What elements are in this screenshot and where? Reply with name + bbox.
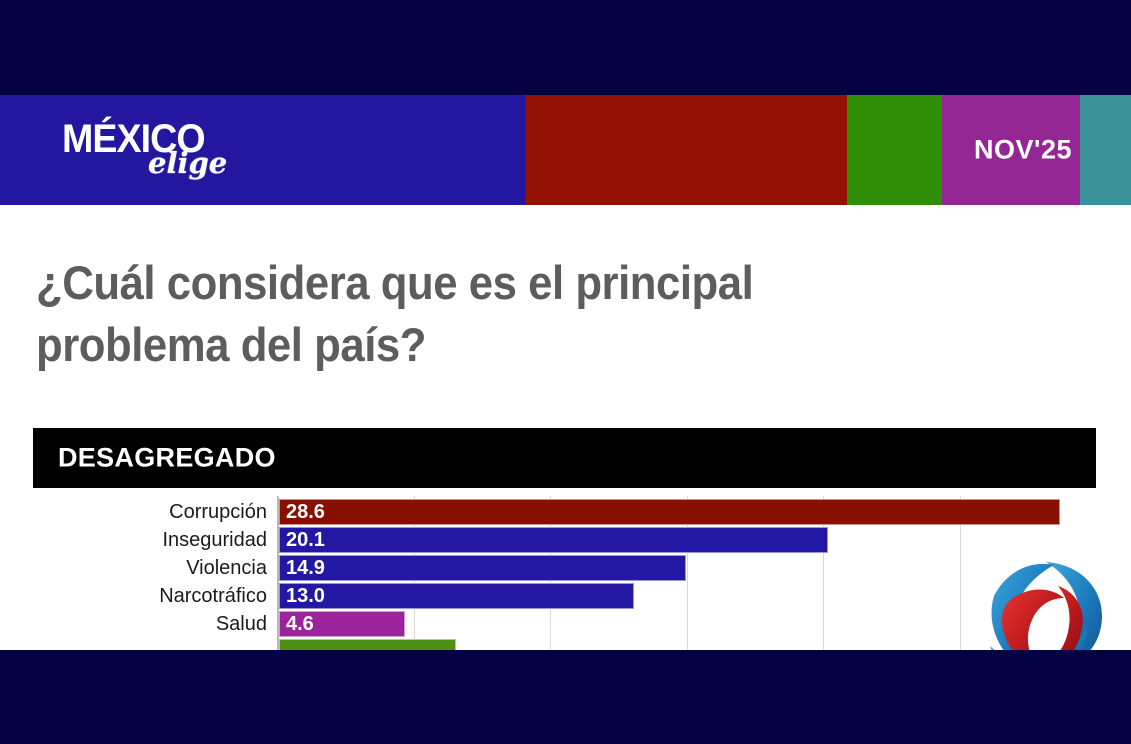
section-header-label: DESAGREGADO bbox=[58, 443, 276, 474]
poll-graphic: MÉXICO elige NOV'25 ¿Cuál considera que … bbox=[0, 0, 1131, 744]
page-title: ¿Cuál considera que es el principal prob… bbox=[36, 252, 873, 376]
banner-segment-purple: NOV'25 bbox=[942, 95, 1080, 205]
category-axis-labels: CorrupciónInseguridadViolenciaNarcotráfi… bbox=[33, 496, 277, 650]
brand-banner: MÉXICO elige NOV'25 bbox=[0, 95, 1131, 205]
bar: 14.9 bbox=[279, 555, 686, 581]
banner-segment-teal bbox=[1080, 95, 1131, 205]
bar-chart: CorrupciónInseguridadViolenciaNarcotráfi… bbox=[33, 496, 1096, 650]
top-navy-strip bbox=[0, 0, 1131, 95]
banner-segment-blue: MÉXICO elige bbox=[0, 95, 525, 205]
category-label: Violencia bbox=[33, 558, 267, 578]
category-label: Corrupción bbox=[33, 502, 267, 522]
bar-value-label: 13.0 bbox=[286, 586, 325, 606]
bar: 4.6 bbox=[279, 611, 405, 637]
category-label: Narcotráfico bbox=[33, 586, 267, 606]
section-header-bar: DESAGREGADO bbox=[33, 428, 1096, 488]
logo-secondary-text: elige bbox=[148, 149, 227, 178]
bar-cropped bbox=[279, 639, 456, 650]
bar-value-label: 28.6 bbox=[286, 502, 325, 522]
bar: 28.6 bbox=[279, 499, 1060, 525]
bar: 20.1 bbox=[279, 527, 828, 553]
plot-area: 28.620.114.913.04.6 bbox=[277, 496, 1096, 650]
bar-value-label: 20.1 bbox=[286, 530, 325, 550]
category-label: Inseguridad bbox=[33, 530, 267, 550]
bottom-navy-strip bbox=[0, 650, 1131, 744]
mexico-elige-logo: MÉXICO elige bbox=[62, 113, 252, 187]
category-label: Salud bbox=[33, 614, 267, 634]
banner-segment-green bbox=[847, 95, 942, 205]
date-badge: NOV'25 bbox=[974, 135, 1072, 166]
bar-value-label: 4.6 bbox=[286, 614, 314, 634]
banner-segment-red bbox=[525, 95, 847, 205]
bar-value-label: 14.9 bbox=[286, 558, 325, 578]
bar: 13.0 bbox=[279, 583, 634, 609]
